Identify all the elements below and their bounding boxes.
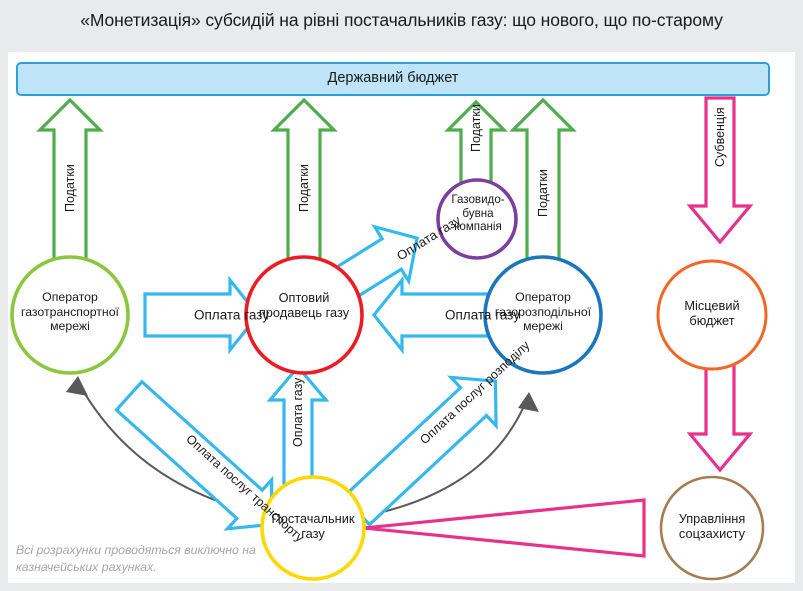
- node-circle-gas-supplier[interactable]: [262, 477, 364, 579]
- arrow-gas-payment-gds-to-wholesaler: [374, 280, 488, 350]
- node-circle-social-office[interactable]: [661, 477, 763, 579]
- curve-arrowhead-gts: [66, 376, 88, 396]
- node-circle-gds-operator[interactable]: [485, 257, 601, 373]
- arrow-tax-4: [513, 100, 573, 270]
- state-budget-label: Державний бюджет: [18, 64, 768, 93]
- arrow-subvention: [690, 98, 750, 242]
- node-circle-gas-producer[interactable]: [438, 180, 516, 258]
- diagram-canvas: Державний бюджет Податки Податки Податки…: [8, 52, 795, 583]
- curve-arrowhead-gds: [518, 392, 539, 412]
- arrow-gas-payment-gts-to-wholesaler: [145, 280, 258, 350]
- node-circle-local-budget[interactable]: [658, 261, 766, 369]
- arrow-tax-3: [448, 102, 504, 184]
- diagram-graphics: [8, 52, 795, 583]
- footer-note: Всі розрахунки проводяться виключно на к…: [16, 542, 266, 575]
- diagram-page: «Монетизація» субсидій на рівні постачал…: [0, 0, 803, 591]
- node-circle-wholesaler[interactable]: [246, 257, 362, 373]
- arrow-gas-payment-supplier-to-wholesaler: [270, 367, 326, 490]
- node-circle-gts-operator[interactable]: [12, 257, 128, 373]
- arrow-tax-2: [274, 100, 334, 270]
- arrow-social-office-to-gas-supplier: [364, 500, 644, 556]
- state-budget-bar[interactable]: Державний бюджет: [16, 62, 770, 96]
- arrow-tax-1: [40, 100, 100, 270]
- page-title: «Монетизація» субсидій на рівні постачал…: [0, 10, 803, 31]
